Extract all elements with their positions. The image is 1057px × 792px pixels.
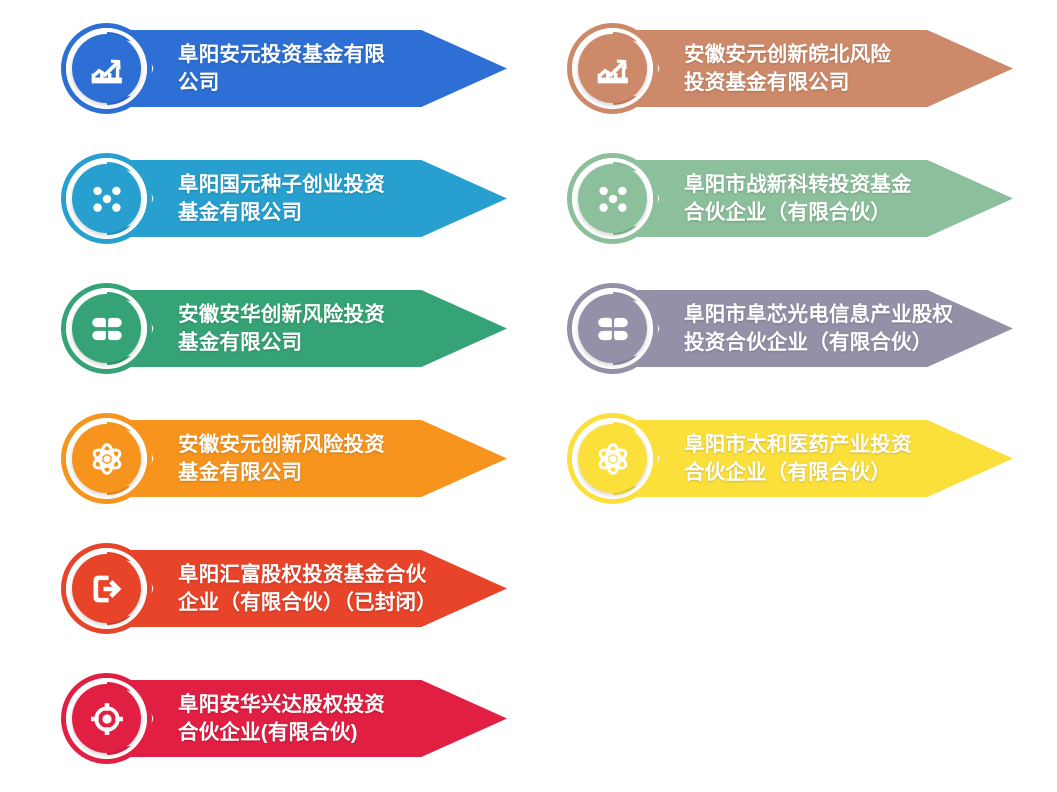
fund-entity-row[interactable]: 阜阳市阜芯光电信息产业股权 投资合伙企业（有限合伙） <box>561 260 1021 390</box>
fund-entity-row[interactable]: 阜阳市太和医药产业投资 合伙企业（有限合伙） <box>561 390 1021 520</box>
fund-entity-row[interactable]: 安徽安华创新风险投资 基金有限公司 <box>55 260 515 390</box>
entity-icon-badge <box>61 673 152 764</box>
entity-icon-badge <box>61 283 152 374</box>
entity-icon-badge <box>61 23 152 114</box>
entity-name-label: 阜阳汇富股权投资基金合伙 企业（有限合伙）（已封闭） <box>178 561 437 616</box>
chart-trending-up-icon <box>84 46 130 92</box>
fund-entity-row[interactable]: 阜阳市战新科转投资基金 合伙企业（有限合伙） <box>561 130 1021 260</box>
entity-name-label: 阜阳安华兴达股权投资 合伙企业(有限合伙) <box>178 691 385 746</box>
arrow-banner[interactable]: 安徽安元创新皖北风险 投资基金有限公司 <box>613 30 1013 107</box>
entity-icon-badge <box>567 283 658 374</box>
entity-icon-badge <box>61 153 152 244</box>
arrow-banner[interactable]: 阜阳国元种子创业投资 基金有限公司 <box>107 160 507 237</box>
fund-entity-row[interactable]: 阜阳国元种子创业投资 基金有限公司 <box>55 130 515 260</box>
entity-name-label: 安徽安元创新皖北风险 投资基金有限公司 <box>684 41 891 96</box>
entity-icon-badge <box>567 23 658 114</box>
arrow-banner[interactable]: 阜阳市太和医药产业投资 合伙企业（有限合伙） <box>613 420 1013 497</box>
entity-name-label: 阜阳市太和医药产业投资 合伙企业（有限合伙） <box>684 431 912 486</box>
entity-name-label: 安徽安华创新风险投资 基金有限公司 <box>178 301 385 356</box>
arrow-banner[interactable]: 阜阳市阜芯光电信息产业股权 投资合伙企业（有限合伙） <box>613 290 1013 367</box>
entity-icon-badge <box>567 153 658 244</box>
diagram-canvas: 阜阳安元投资基金有限 公司阜阳国元种子创业投资 基金有限公司安徽安华创新风险投资… <box>0 0 1057 792</box>
fund-entity-row[interactable]: 安徽安元创新皖北风险 投资基金有限公司 <box>561 0 1021 130</box>
chart-trending-up-icon <box>590 46 636 92</box>
entity-name-label: 安徽安元创新风险投资 基金有限公司 <box>178 431 385 486</box>
arrow-banner[interactable]: 安徽安华创新风险投资 基金有限公司 <box>107 290 507 367</box>
fund-entity-row[interactable]: 阜阳汇富股权投资基金合伙 企业（有限合伙）（已封闭） <box>55 520 515 650</box>
entity-icon-badge <box>567 413 658 504</box>
atom-icon <box>590 436 636 482</box>
arrow-banner[interactable]: 阜阳汇富股权投资基金合伙 企业（有限合伙）（已封闭） <box>107 550 507 627</box>
arrow-banner[interactable]: 安徽安元创新风险投资 基金有限公司 <box>107 420 507 497</box>
crosshair-target-icon <box>84 696 130 742</box>
atom-icon <box>84 436 130 482</box>
clover-four-petal-icon <box>84 306 130 352</box>
entity-icon-badge <box>61 413 152 504</box>
entity-name-label: 阜阳安元投资基金有限 公司 <box>178 41 385 96</box>
five-dots-icon <box>590 176 636 222</box>
exit-arrow-icon <box>84 566 130 612</box>
arrow-banner[interactable]: 阜阳安元投资基金有限 公司 <box>107 30 507 107</box>
fund-entity-row[interactable]: 阜阳安华兴达股权投资 合伙企业(有限合伙) <box>55 650 515 780</box>
fund-entity-row[interactable]: 安徽安元创新风险投资 基金有限公司 <box>55 390 515 520</box>
arrow-banner[interactable]: 阜阳市战新科转投资基金 合伙企业（有限合伙） <box>613 160 1013 237</box>
arrow-banner[interactable]: 阜阳安华兴达股权投资 合伙企业(有限合伙) <box>107 680 507 757</box>
clover-four-petal-icon <box>590 306 636 352</box>
entity-name-label: 阜阳市阜芯光电信息产业股权 投资合伙企业（有限合伙） <box>684 301 953 356</box>
fund-entity-row[interactable]: 阜阳安元投资基金有限 公司 <box>55 0 515 130</box>
entity-icon-badge <box>61 543 152 634</box>
entity-name-label: 阜阳国元种子创业投资 基金有限公司 <box>178 171 385 226</box>
five-dots-icon <box>84 176 130 222</box>
entity-name-label: 阜阳市战新科转投资基金 合伙企业（有限合伙） <box>684 171 912 226</box>
